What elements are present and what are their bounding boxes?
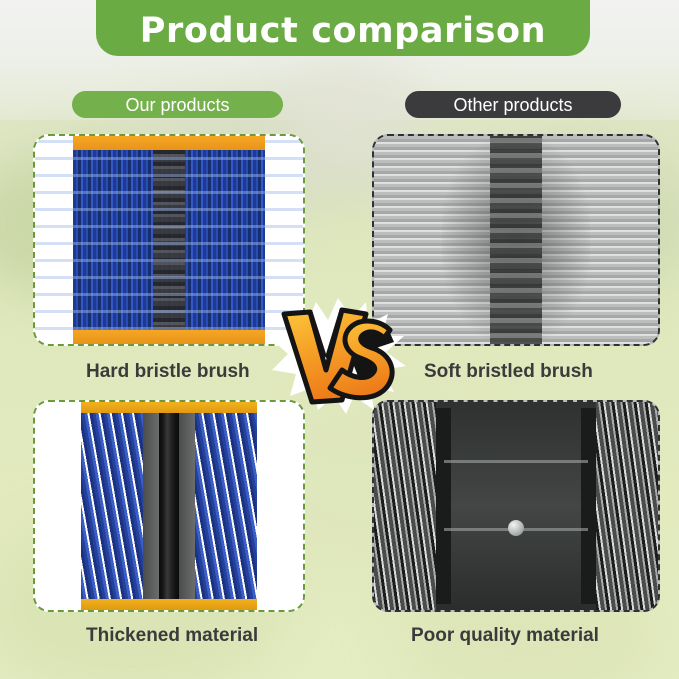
vs-badge — [268, 296, 408, 414]
plate-rail-right — [581, 408, 596, 604]
caption-soft-bristled-brush: Soft bristled brush — [424, 362, 593, 381]
gray-bristle-band-right — [596, 402, 658, 610]
gray-pad-left — [143, 402, 159, 610]
title-banner: Product comparison — [96, 0, 590, 56]
gray-bristle-band-left — [374, 402, 436, 610]
brush-core — [490, 136, 542, 344]
card-poor-quality-material — [372, 400, 660, 612]
our-products-badge: Our products — [72, 91, 283, 118]
rivet-icon — [508, 520, 524, 536]
blue-bristle-band-right — [195, 410, 257, 602]
orange-edge-bottom — [81, 599, 257, 610]
other-products-badge: Other products — [405, 91, 621, 118]
page-title: Product comparison — [140, 14, 546, 49]
hard-bristle-brush-image — [35, 136, 303, 344]
soft-bristled-brush-image — [374, 136, 658, 344]
gray-pad-right — [179, 402, 195, 610]
product-comparison-infographic: Product comparison Our products Other pr… — [0, 0, 679, 679]
bristle-tuft-overlay — [35, 136, 303, 344]
plate-rail-left — [436, 408, 451, 604]
caption-poor-quality-material: Poor quality material — [411, 626, 599, 645]
card-soft-bristled-brush — [372, 134, 660, 346]
orange-edge-bottom — [73, 330, 265, 344]
caption-thickened-material: Thickened material — [86, 626, 258, 645]
caption-hard-bristle-brush: Hard bristle brush — [86, 362, 250, 381]
blue-bristle-band-left — [81, 410, 143, 602]
thin-backing-plate — [436, 402, 596, 610]
thick-black-core-bar — [159, 402, 179, 610]
our-products-label: Our products — [125, 96, 229, 114]
card-hard-bristle-brush — [33, 134, 305, 346]
other-products-label: Other products — [453, 96, 572, 114]
orange-edge-top — [81, 402, 257, 413]
orange-edge-top — [73, 136, 265, 150]
thickened-material-image — [35, 402, 303, 610]
plate-seam — [444, 460, 588, 463]
poor-quality-material-image — [374, 402, 658, 610]
card-thickened-material — [33, 400, 305, 612]
